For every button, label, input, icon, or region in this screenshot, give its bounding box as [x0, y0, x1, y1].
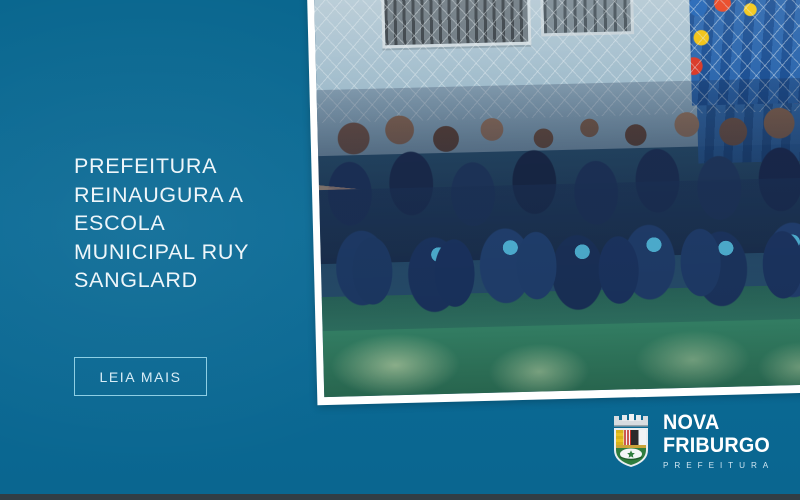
photo-layer-sunlight [322, 285, 800, 398]
bottom-bar [0, 494, 800, 500]
brand-logo[interactable]: NOVA FRIBURGO PREFEITURA [608, 412, 779, 470]
read-more-button[interactable]: LEIA MAIS [74, 357, 207, 396]
brand-wordmark: NOVA FRIBURGO PREFEITURA [663, 412, 779, 470]
news-banner: PREFEITURA REINAUGURA A ESCOLA MUNICIPAL… [0, 0, 800, 500]
nova-friburgo-coat-of-arms-icon [608, 412, 654, 470]
brand-line-nova: NOVA [663, 412, 770, 434]
event-photo [314, 0, 800, 397]
page-title: PREFEITURA REINAUGURA A ESCOLA MUNICIPAL… [74, 152, 289, 295]
brand-subtitle: PREFEITURA [663, 461, 775, 470]
brand-line-friburgo: FRIBURGO [663, 435, 770, 457]
photo-frame [307, 0, 800, 405]
headline-block: PREFEITURA REINAUGURA A ESCOLA MUNICIPAL… [74, 152, 289, 295]
photo-layer-raised-arms [315, 11, 800, 190]
